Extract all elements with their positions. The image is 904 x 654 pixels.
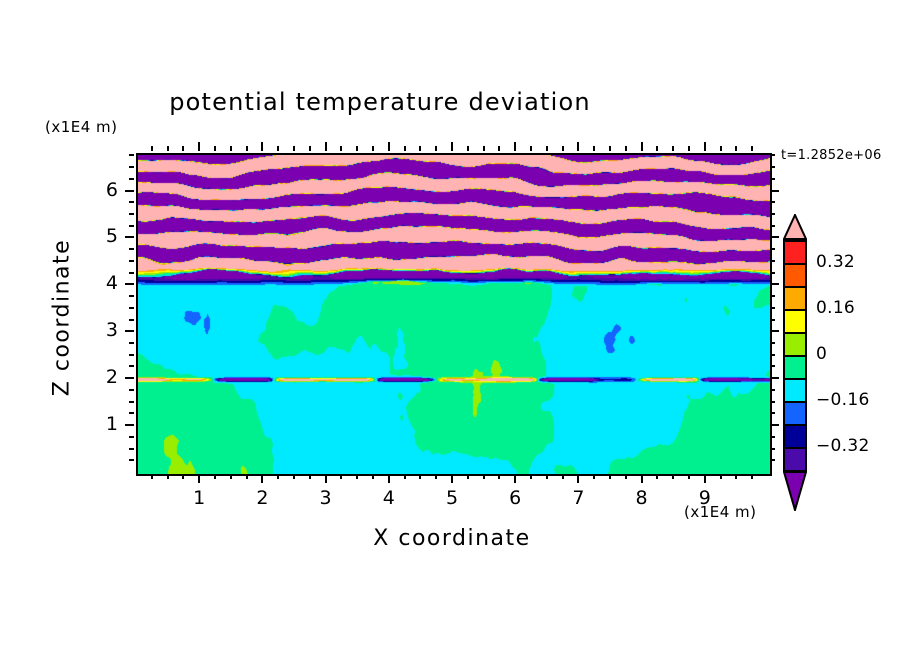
z-tick-minor bbox=[129, 319, 134, 321]
colorbar-band bbox=[783, 424, 807, 449]
x-tick-top bbox=[388, 142, 390, 151]
x-tick-top bbox=[230, 146, 232, 151]
z-tick-right bbox=[770, 225, 775, 227]
z-tick-minor bbox=[129, 436, 134, 438]
z-tick-right bbox=[770, 459, 775, 461]
z-tick-minor bbox=[129, 213, 134, 215]
x-tick-minor bbox=[419, 474, 421, 479]
x-tick-top bbox=[372, 146, 374, 151]
colorbar-bottom-arrow bbox=[783, 471, 807, 511]
z-tick-right bbox=[770, 377, 779, 379]
colorbar-band bbox=[783, 240, 807, 265]
x-tick-minor bbox=[182, 474, 184, 479]
x-tick-minor bbox=[609, 474, 611, 479]
x-tick-label: 1 bbox=[179, 487, 219, 509]
x-tick-top bbox=[182, 146, 184, 151]
chart-title: potential temperature deviation bbox=[0, 88, 760, 116]
x-tick-minor bbox=[214, 474, 216, 479]
z-tick-label: 1 bbox=[88, 413, 118, 435]
z-tick-minor bbox=[129, 260, 134, 262]
x-tick-top bbox=[720, 146, 722, 151]
x-tick-top bbox=[735, 146, 737, 151]
x-tick-top bbox=[214, 146, 216, 151]
z-tick-minor bbox=[129, 201, 134, 203]
x-tick-minor bbox=[751, 474, 753, 479]
z-tick-right bbox=[770, 213, 775, 215]
z-tick-right bbox=[770, 190, 779, 192]
x-tick-minor bbox=[404, 474, 406, 479]
x-tick-top bbox=[467, 146, 469, 151]
z-tick-minor bbox=[129, 178, 134, 180]
x-tick-major bbox=[388, 474, 390, 483]
x-tick-top bbox=[609, 146, 611, 151]
z-tick-right bbox=[770, 283, 779, 285]
z-tick-minor bbox=[129, 412, 134, 414]
colorbar bbox=[783, 240, 807, 468]
colorbar-tick-label: −0.32 bbox=[816, 436, 870, 456]
z-tick-right bbox=[770, 448, 775, 450]
z-tick-minor bbox=[129, 154, 134, 156]
x-tick-minor bbox=[562, 474, 564, 479]
x-tick-top bbox=[198, 142, 200, 151]
x-tick-top bbox=[672, 146, 674, 151]
colorbar-tick-label: 0.16 bbox=[816, 298, 855, 318]
x-tick-top bbox=[309, 146, 311, 151]
z-tick-right bbox=[770, 436, 775, 438]
x-tick-top bbox=[356, 146, 358, 151]
colorbar-band bbox=[783, 286, 807, 311]
z-tick-right bbox=[770, 272, 775, 274]
x-tick-major bbox=[451, 474, 453, 483]
colorbar-tick-label: −0.16 bbox=[816, 390, 870, 410]
z-tick-right bbox=[770, 178, 775, 180]
z-tick-label: 3 bbox=[88, 319, 118, 341]
z-tick-right bbox=[770, 260, 775, 262]
colorbar-band bbox=[783, 309, 807, 334]
z-tick-right bbox=[770, 166, 775, 168]
x-tick-top bbox=[277, 146, 279, 151]
colorbar-band bbox=[783, 447, 807, 472]
z-tick-right bbox=[770, 154, 775, 156]
z-tick-major bbox=[125, 236, 134, 238]
z-tick-right bbox=[770, 295, 775, 297]
x-tick-top bbox=[167, 146, 169, 151]
x-tick-minor bbox=[277, 474, 279, 479]
x-tick-top bbox=[419, 146, 421, 151]
x-tick-top bbox=[656, 146, 658, 151]
x-tick-top bbox=[546, 146, 548, 151]
z-tick-right bbox=[770, 201, 775, 203]
colorbar-tick-label: 0 bbox=[816, 344, 827, 364]
z-tick-right bbox=[770, 354, 775, 356]
x-tick-top bbox=[246, 146, 248, 151]
z-tick-minor bbox=[129, 342, 134, 344]
x-tick-top bbox=[562, 146, 564, 151]
z-tick-right bbox=[770, 319, 775, 321]
x-tick-major bbox=[641, 474, 643, 483]
colorbar-band bbox=[783, 332, 807, 357]
z-tick-label: 5 bbox=[88, 225, 118, 247]
x-tick-top bbox=[530, 146, 532, 151]
x-tick-label: 7 bbox=[558, 487, 598, 509]
colorbar-top-arrow bbox=[783, 214, 807, 240]
z-tick-minor bbox=[129, 354, 134, 356]
x-tick-top bbox=[293, 146, 295, 151]
x-tick-minor bbox=[246, 474, 248, 479]
x-tick-label: 6 bbox=[495, 487, 535, 509]
z-tick-minor bbox=[129, 389, 134, 391]
x-tick-minor bbox=[546, 474, 548, 479]
x-tick-minor bbox=[309, 474, 311, 479]
z-tick-label: 2 bbox=[88, 366, 118, 388]
z-axis-title: Z coordinate bbox=[50, 218, 75, 418]
x-tick-minor bbox=[656, 474, 658, 479]
z-tick-minor bbox=[129, 307, 134, 309]
x-tick-minor bbox=[293, 474, 295, 479]
x-tick-label: 5 bbox=[432, 487, 472, 509]
x-tick-minor bbox=[340, 474, 342, 479]
x-tick-minor bbox=[356, 474, 358, 479]
z-tick-minor bbox=[129, 272, 134, 274]
z-tick-right bbox=[770, 365, 775, 367]
x-tick-minor bbox=[483, 474, 485, 479]
x-tick-label: 4 bbox=[369, 487, 409, 509]
x-tick-top bbox=[641, 142, 643, 151]
x-tick-minor bbox=[672, 474, 674, 479]
z-tick-major bbox=[125, 424, 134, 426]
timestamp-annotation: t=1.2852e+06 bbox=[781, 148, 882, 163]
z-tick-minor bbox=[129, 459, 134, 461]
colorbar-band bbox=[783, 378, 807, 403]
z-tick-right bbox=[770, 307, 775, 309]
x-tick-minor bbox=[372, 474, 374, 479]
x-tick-major bbox=[261, 474, 263, 483]
x-tick-top bbox=[451, 142, 453, 151]
x-tick-minor bbox=[467, 474, 469, 479]
x-tick-minor bbox=[720, 474, 722, 479]
x-tick-major bbox=[514, 474, 516, 483]
contour-plot-area bbox=[136, 153, 772, 476]
z-tick-right bbox=[770, 412, 775, 414]
z-tick-right bbox=[770, 424, 779, 426]
z-tick-right bbox=[770, 401, 775, 403]
x-tick-top bbox=[688, 146, 690, 151]
x-tick-minor bbox=[625, 474, 627, 479]
x-tick-label: 2 bbox=[242, 487, 282, 509]
x-tick-major bbox=[704, 474, 706, 483]
x-tick-top bbox=[340, 146, 342, 151]
x-tick-top bbox=[435, 146, 437, 151]
z-tick-right bbox=[770, 342, 775, 344]
x-tick-top bbox=[593, 146, 595, 151]
z-tick-right bbox=[770, 330, 779, 332]
x-tick-minor bbox=[593, 474, 595, 479]
z-tick-major bbox=[125, 283, 134, 285]
z-axis-unit-label: (x1E4 m) bbox=[45, 118, 118, 136]
x-tick-top bbox=[514, 142, 516, 151]
x-tick-minor bbox=[435, 474, 437, 479]
x-tick-minor bbox=[498, 474, 500, 479]
z-tick-major bbox=[125, 377, 134, 379]
z-tick-minor bbox=[129, 248, 134, 250]
x-tick-top bbox=[151, 146, 153, 151]
z-tick-minor bbox=[129, 225, 134, 227]
x-tick-top bbox=[625, 146, 627, 151]
colorbar-band bbox=[783, 401, 807, 426]
x-tick-top bbox=[704, 142, 706, 151]
z-tick-right bbox=[770, 248, 775, 250]
x-tick-top bbox=[483, 146, 485, 151]
z-tick-right bbox=[770, 389, 775, 391]
contour-field-canvas bbox=[138, 155, 770, 474]
x-tick-major bbox=[577, 474, 579, 483]
colorbar-tick-label: 0.32 bbox=[816, 252, 855, 272]
x-tick-minor bbox=[167, 474, 169, 479]
x-tick-top bbox=[751, 146, 753, 151]
colorbar-band bbox=[783, 263, 807, 288]
z-tick-minor bbox=[129, 448, 134, 450]
x-tick-label: 8 bbox=[622, 487, 662, 509]
x-tick-major bbox=[198, 474, 200, 483]
x-tick-top bbox=[261, 142, 263, 151]
colorbar-band bbox=[783, 355, 807, 380]
x-tick-minor bbox=[530, 474, 532, 479]
x-axis-title: X coordinate bbox=[136, 526, 768, 551]
x-tick-label: 9 bbox=[685, 487, 725, 509]
x-tick-top bbox=[577, 142, 579, 151]
x-tick-minor bbox=[151, 474, 153, 479]
z-tick-minor bbox=[129, 401, 134, 403]
x-tick-minor bbox=[735, 474, 737, 479]
z-tick-label: 4 bbox=[88, 272, 118, 294]
x-tick-top bbox=[325, 142, 327, 151]
z-tick-minor bbox=[129, 365, 134, 367]
z-tick-minor bbox=[129, 166, 134, 168]
figure-canvas: potential temperature deviation (x1E4 m)… bbox=[0, 0, 904, 654]
x-tick-label: 3 bbox=[306, 487, 346, 509]
z-tick-right bbox=[770, 236, 779, 238]
x-tick-top bbox=[498, 146, 500, 151]
x-tick-top bbox=[404, 146, 406, 151]
x-tick-minor bbox=[230, 474, 232, 479]
z-tick-major bbox=[125, 330, 134, 332]
z-tick-label: 6 bbox=[88, 179, 118, 201]
x-tick-minor bbox=[688, 474, 690, 479]
z-tick-minor bbox=[129, 295, 134, 297]
z-tick-major bbox=[125, 190, 134, 192]
x-tick-major bbox=[325, 474, 327, 483]
